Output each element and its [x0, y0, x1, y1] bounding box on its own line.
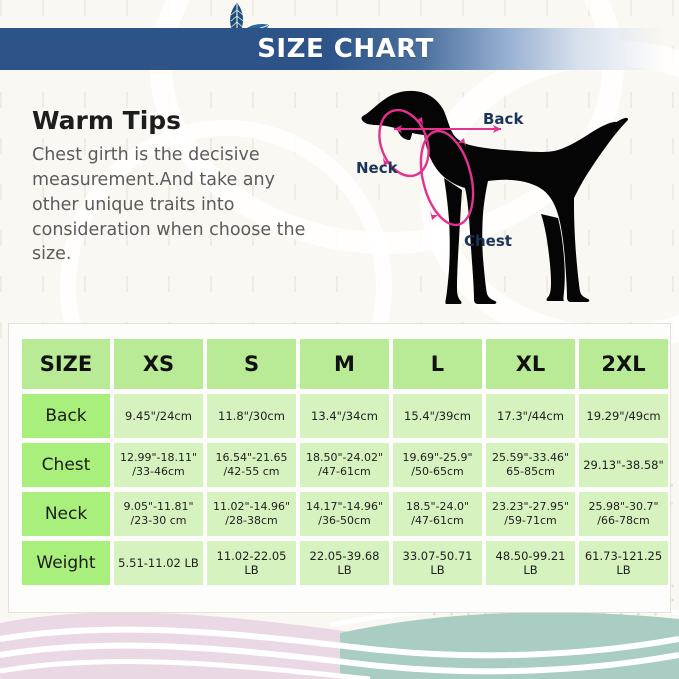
- cell-neck-m: 14.17"-14.96"/36-50cm: [300, 492, 389, 536]
- cell-weight-s: 11.02-22.05 LB: [207, 541, 296, 585]
- cell-chest-2xl: 29.13"-38.58": [579, 443, 668, 487]
- size-table: SIZEXSSMLXL2XLBack9.45"/24cm11.8"/30cm13…: [18, 334, 672, 590]
- cell-chest-l: 19.69"-25.9"/50-65cm: [393, 443, 482, 487]
- cell-weight-xl: 48.50-99.21 LB: [486, 541, 575, 585]
- cell-neck-xl: 23.23"-27.95"/59-71cm: [486, 492, 575, 536]
- cell-chest-m: 18.50"-24.02"/47-61cm: [300, 443, 389, 487]
- table-row: Chest12.99"-18.11"/33-46cm16.54"-21.65/4…: [22, 443, 668, 487]
- cell-neck-s: 11.02"-14.96"/28-38cm: [207, 492, 296, 536]
- row-label-neck: Neck: [22, 492, 110, 536]
- dog-measurement-diagram: Back Neck Chest: [336, 78, 676, 320]
- label-back: Back: [483, 110, 523, 128]
- table-row: Neck9.05"-11.81"/23-30 cm11.02"-14.96"/2…: [22, 492, 668, 536]
- cell-chest-s: 16.54"-21.65/42-55 cm: [207, 443, 296, 487]
- cell-back-s: 11.8"/30cm: [207, 394, 296, 438]
- table-row: Back9.45"/24cm11.8"/30cm13.4"/34cm15.4"/…: [22, 394, 668, 438]
- warm-tips-section: Warm Tips Chest girth is the decisive me…: [32, 106, 322, 267]
- column-header-m: M: [300, 339, 389, 389]
- size-chart-page: SIZE CHART Warm Tips Chest girth is the …: [0, 0, 679, 679]
- page-title: SIZE CHART: [257, 34, 434, 64]
- cell-neck-l: 18.5"-24.0"/47-61cm: [393, 492, 482, 536]
- cell-back-2xl: 19.29"/49cm: [579, 394, 668, 438]
- row-label-chest: Chest: [22, 443, 110, 487]
- cell-neck-xs: 9.05"-11.81"/23-30 cm: [114, 492, 203, 536]
- cell-weight-l: 33.07-50.71 LB: [393, 541, 482, 585]
- cell-back-m: 13.4"/34cm: [300, 394, 389, 438]
- column-header-xs: XS: [114, 339, 203, 389]
- cell-chest-xs: 12.99"-18.11"/33-46cm: [114, 443, 203, 487]
- table-header-row: SIZEXSSMLXL2XL: [22, 339, 668, 389]
- column-header-2xl: 2XL: [579, 339, 668, 389]
- cell-back-xl: 17.3"/44cm: [486, 394, 575, 438]
- label-chest: Chest: [464, 232, 512, 250]
- warm-tips-body: Chest girth is the decisive measurement.…: [32, 143, 322, 267]
- cell-weight-2xl: 61.73-121.25 LB: [579, 541, 668, 585]
- cell-back-xs: 9.45"/24cm: [114, 394, 203, 438]
- cell-neck-2xl: 25.98"-30.7"/66-78cm: [579, 492, 668, 536]
- table-row: Weight5.51-11.02 LB11.02-22.05 LB22.05-3…: [22, 541, 668, 585]
- column-header-xl: XL: [486, 339, 575, 389]
- row-label-weight: Weight: [22, 541, 110, 585]
- cell-chest-xl: 25.59"-33.46"65-85cm: [486, 443, 575, 487]
- column-header-l: L: [393, 339, 482, 389]
- column-header-size: SIZE: [22, 339, 110, 389]
- column-header-s: S: [207, 339, 296, 389]
- cell-weight-xs: 5.51-11.02 LB: [114, 541, 203, 585]
- row-label-back: Back: [22, 394, 110, 438]
- header-banner: SIZE CHART: [0, 28, 679, 70]
- cell-back-l: 15.4"/39cm: [393, 394, 482, 438]
- size-table-card: SIZEXSSMLXL2XLBack9.45"/24cm11.8"/30cm13…: [9, 324, 670, 612]
- cell-weight-m: 22.05-39.68 LB: [300, 541, 389, 585]
- label-neck: Neck: [356, 159, 398, 177]
- warm-tips-title: Warm Tips: [32, 106, 322, 135]
